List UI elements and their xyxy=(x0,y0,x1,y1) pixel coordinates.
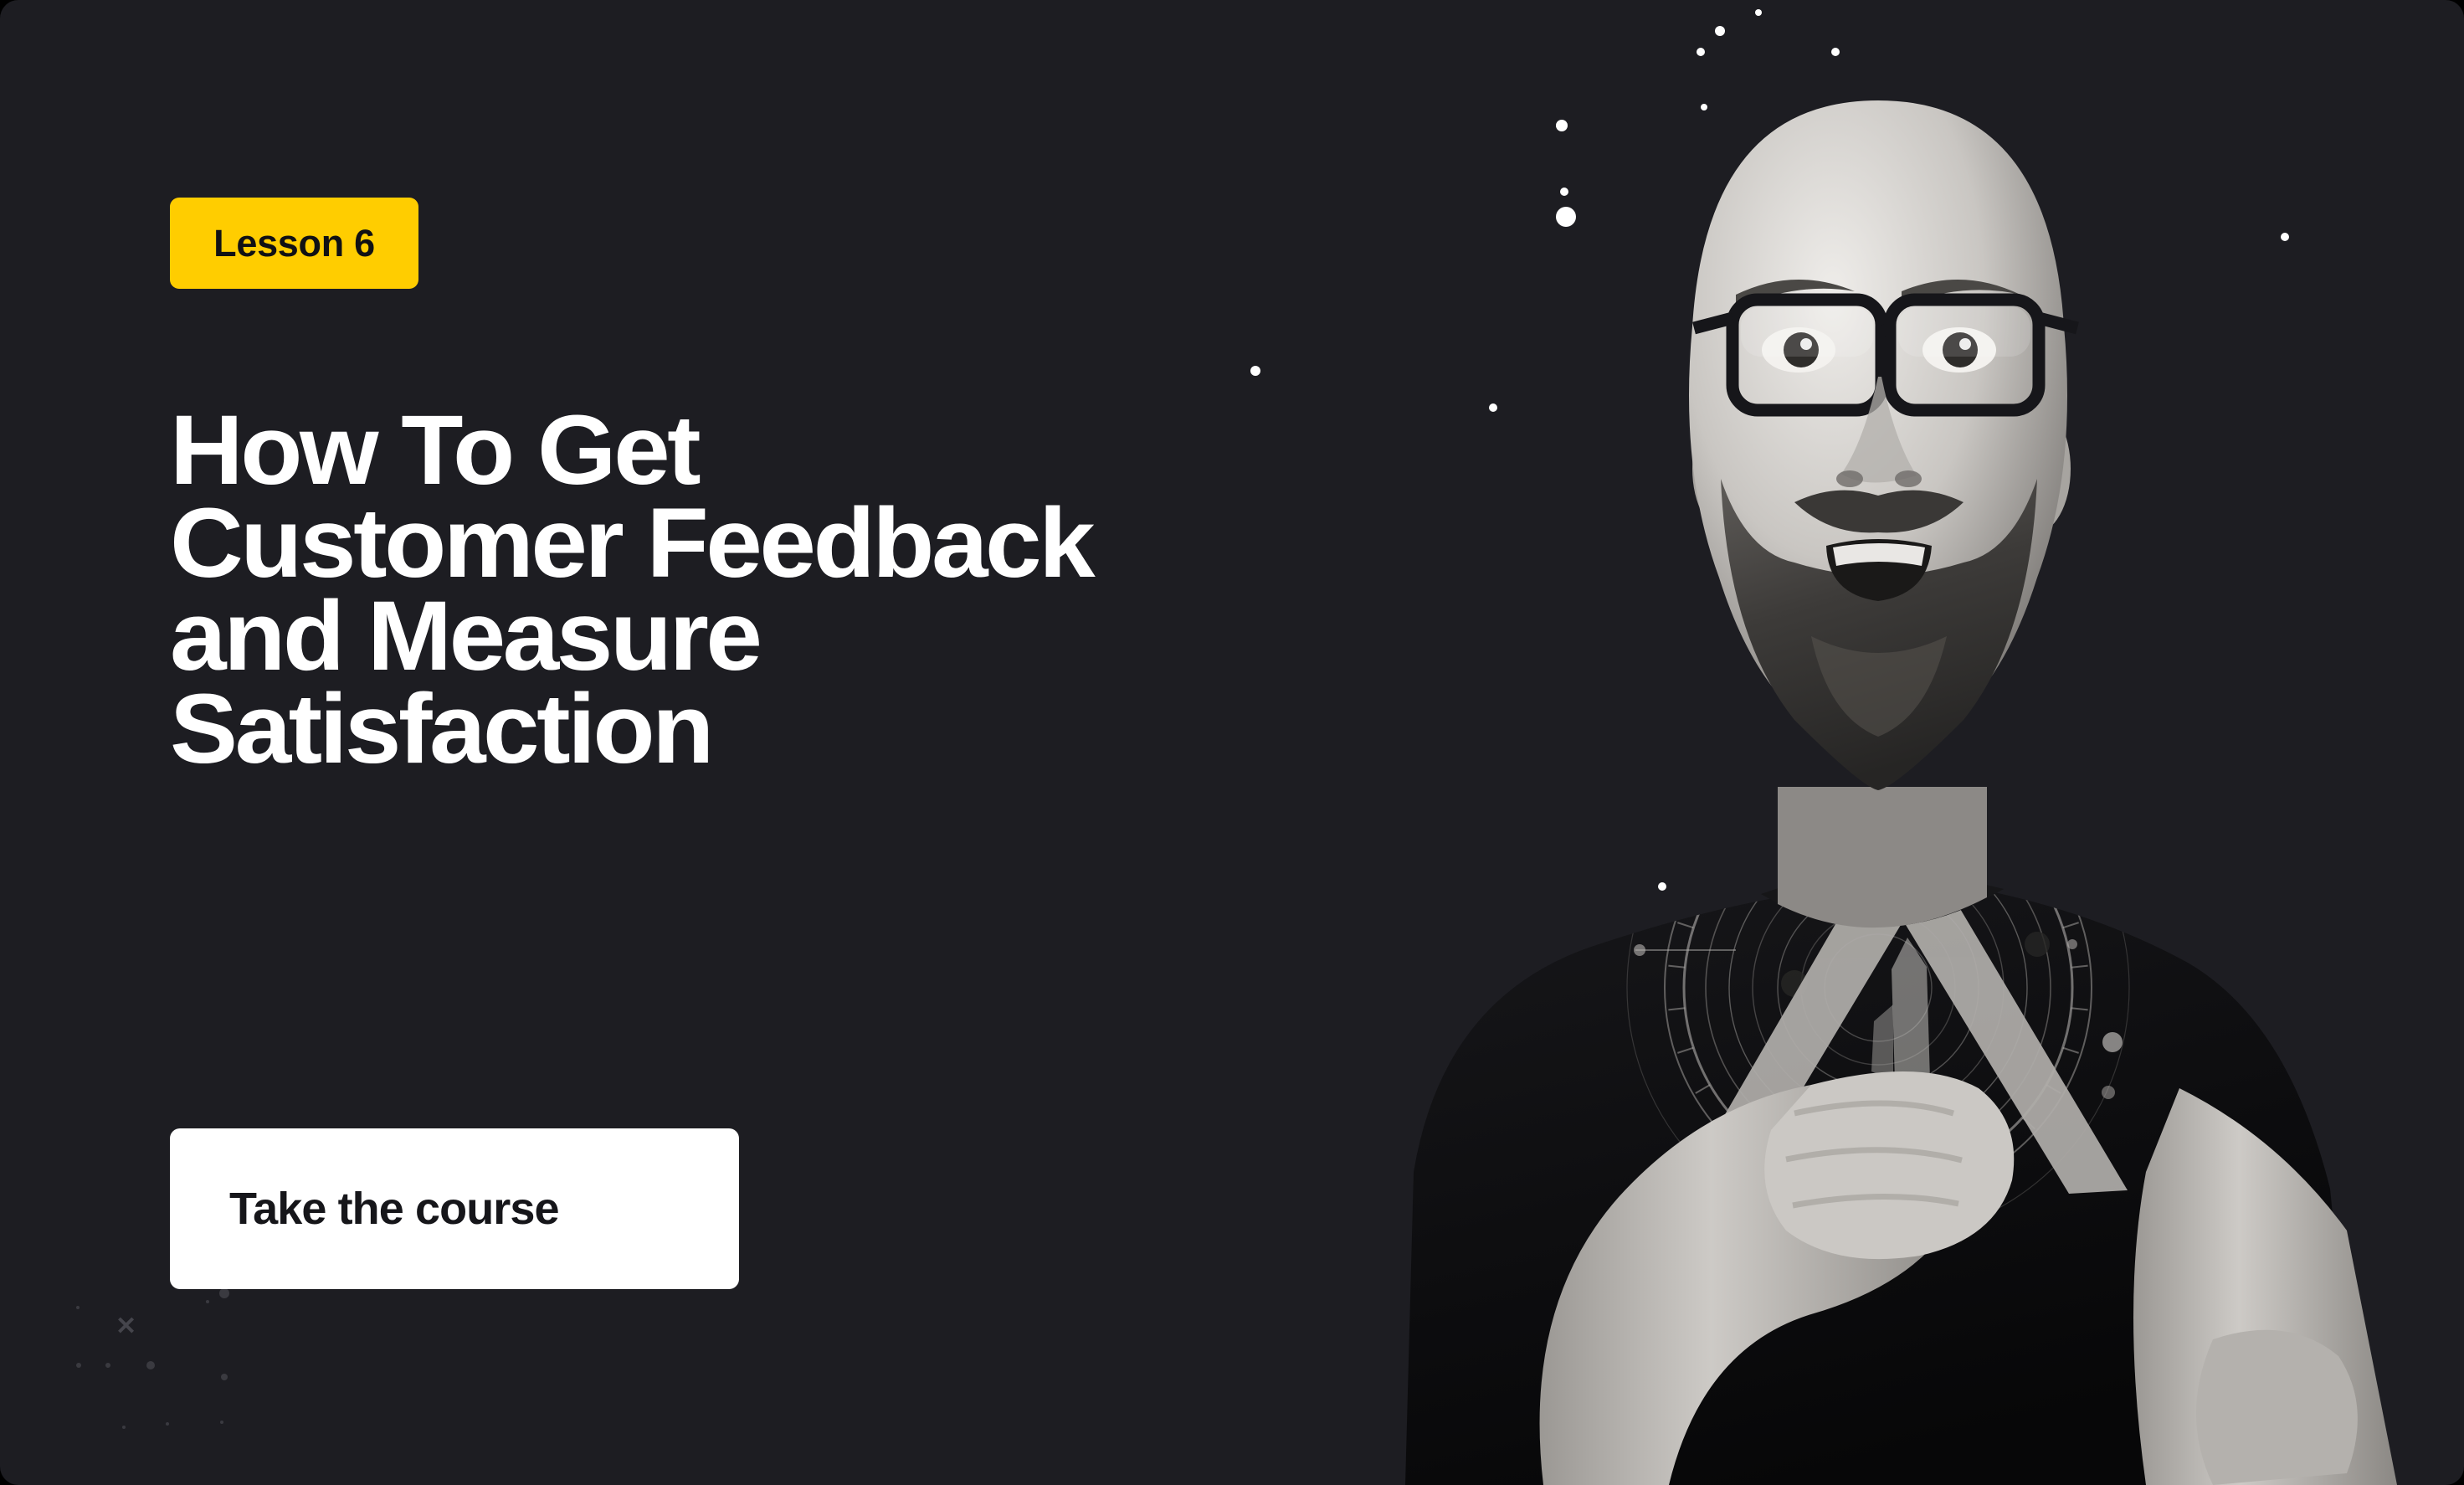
lesson-badge-label: Lesson 6 xyxy=(213,222,375,265)
dim-dot xyxy=(122,1426,126,1429)
dim-dot xyxy=(76,1306,80,1309)
dim-dot xyxy=(105,1363,110,1368)
lesson-content-column: Lesson 6 How To Get Customer Feedback an… xyxy=(170,0,1760,1485)
page-title-line-3: and Measure xyxy=(170,590,1748,683)
dim-dot xyxy=(76,1363,81,1368)
dim-dot xyxy=(166,1422,169,1426)
page-title-line-1: How To Get xyxy=(170,404,1748,497)
dim-dot xyxy=(146,1361,155,1369)
page-title-line-2: Customer Feedback xyxy=(170,497,1748,590)
lesson-promo-card: ✕ xyxy=(0,0,2464,1485)
lesson-badge: Lesson 6 xyxy=(170,198,418,289)
page-title-line-4: Satisfaction xyxy=(170,683,1748,776)
take-the-course-button[interactable]: Take the course xyxy=(170,1128,739,1289)
x-sparkle-icon: ✕ xyxy=(116,1314,136,1339)
take-the-course-label: Take the course xyxy=(229,1183,559,1235)
page-title: How To Get Customer Feedback and Measure… xyxy=(170,404,1702,776)
